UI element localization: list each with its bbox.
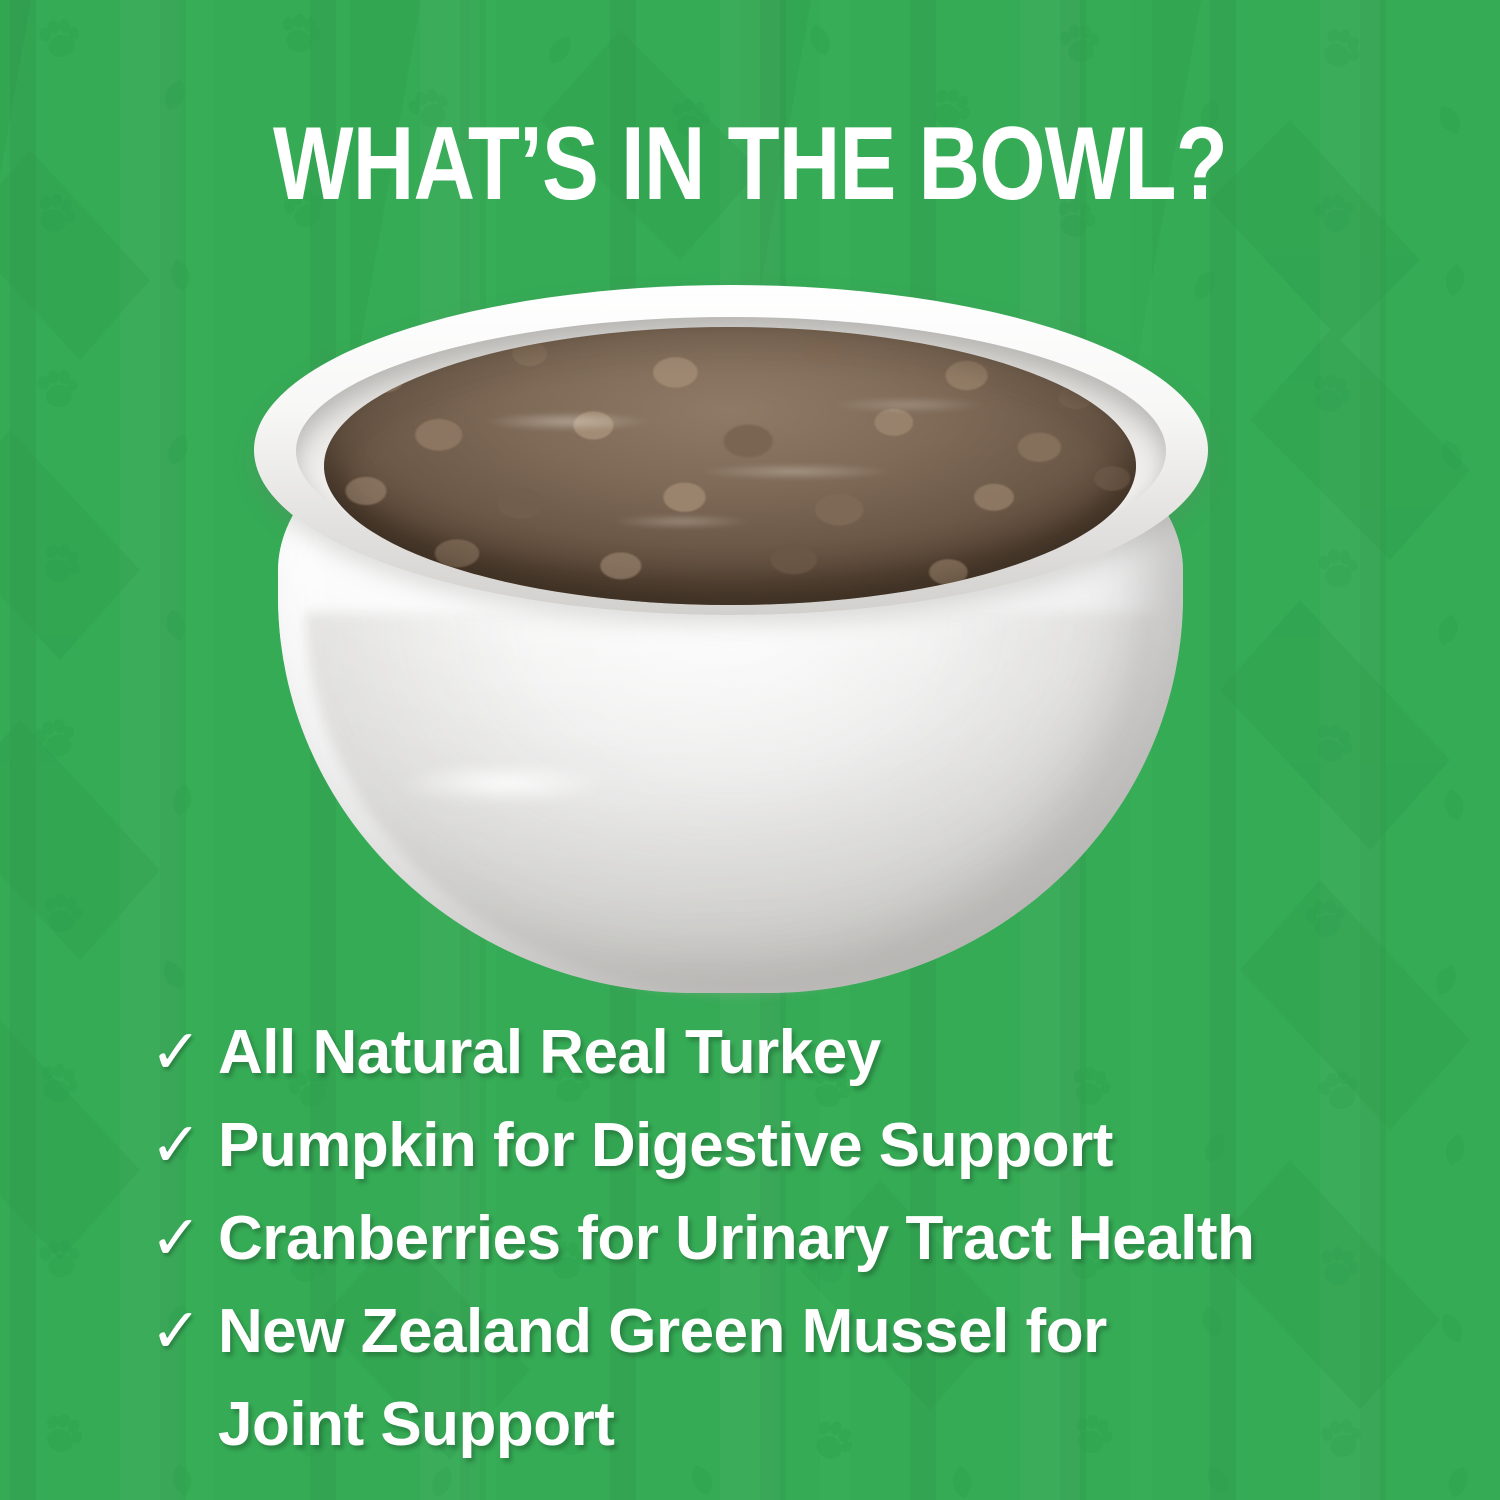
list-item: ✓ All Natural Real Turkey [150,1022,1450,1115]
benefit-label: New Zealand Green Mussel for [218,1301,1107,1363]
benefit-label: Cranberries for Urinary Tract Health [218,1208,1254,1270]
list-item: ✓ Cranberries for Urinary Tract Health [150,1208,1450,1301]
page-title: WHAT’S IN THE BOWL? [135,112,1365,216]
check-icon: ✓ [150,1301,218,1363]
bowl-highlight [356,753,656,813]
check-icon: ✓ [150,1022,218,1084]
pet-food-contents [324,327,1136,605]
check-icon: ✓ [150,1208,218,1270]
benefit-label: All Natural Real Turkey [218,1022,881,1084]
food-edge-shadow [324,327,1136,605]
benefits-list: ✓ All Natural Real Turkey ✓ Pumpkin for … [150,1022,1450,1487]
list-item: ✓ New Zealand Green Mussel for [150,1301,1450,1394]
product-feature-poster: WHAT’S IN THE BOWL? ✓ All Natural Real T… [0,0,1500,1500]
benefit-label: Pumpkin for Digestive Support [218,1115,1113,1177]
benefit-label-continuation: Joint Support [218,1394,614,1456]
list-item-continuation: Joint Support [150,1394,1450,1487]
product-bowl-image [236,283,1226,998]
check-icon: ✓ [150,1115,218,1177]
list-item: ✓ Pumpkin for Digestive Support [150,1115,1450,1208]
